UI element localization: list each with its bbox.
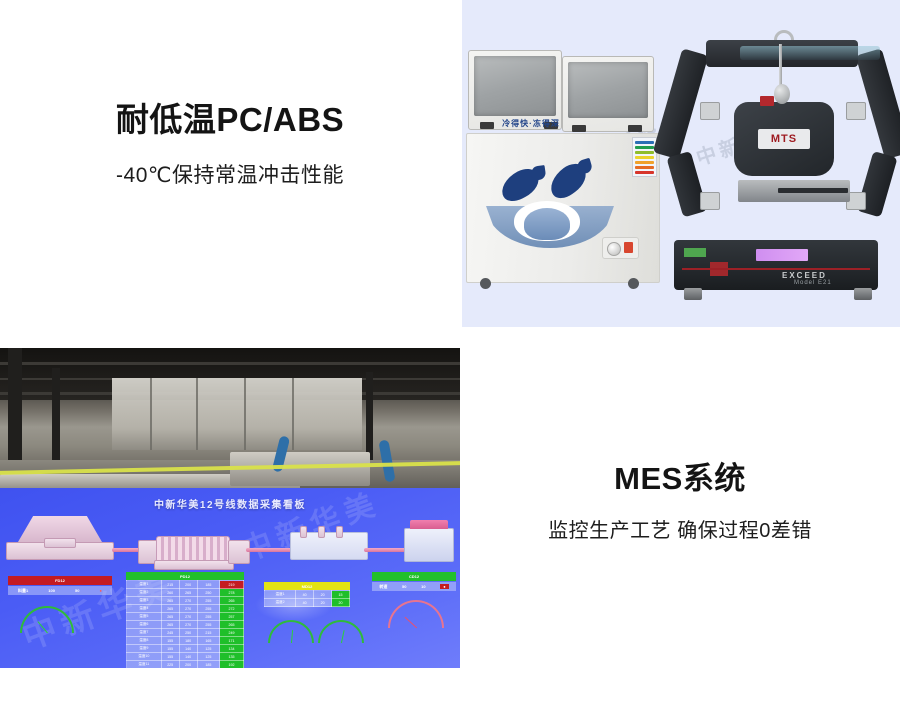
panel-header-pd12: PD12 [126,572,244,580]
extruder-frame [154,560,234,570]
feature-mes-subtitle: 监控生产工艺 确保过程0差错 [460,521,900,541]
freezer-caster-1 [480,278,491,289]
cell-lo: 250 [197,589,219,597]
panel-stack-3 [336,526,343,538]
cell-pv: 135 [220,653,244,661]
pipe-panel-to-pelletizer [364,548,408,552]
panel-chips-fd12: 料量1 100 50 ● [8,586,112,595]
panel-stack-1 [300,526,307,538]
cell-set: 260 [161,589,179,597]
gauge-md12-1 [268,620,314,643]
logo-wave-core [524,208,570,240]
cell-set: 265 [161,597,179,605]
table-row: 温度9155140125134 [127,645,244,653]
cell-hi: 265 [179,589,197,597]
tester-base: EXCEED Model E21 [674,240,878,290]
chip-fd12-3: ● [100,588,102,593]
frame-glass [740,46,880,60]
test-specimen [778,188,848,193]
chip-fd12-2: 50 [75,588,79,593]
feeder-throat [44,538,76,548]
cell-pv: 134 [220,645,244,653]
cell-pv: 278 [220,589,244,597]
cell-label: 温度8 [127,637,162,645]
gauge-fd12-needle [37,621,47,633]
chip-cd12-1: 50 [402,584,406,589]
table-row: 温度5265270255257 [127,613,244,621]
freezer-lid-right-panel [568,62,648,118]
frame-arm-top [706,40,858,67]
cell-label: 温度11 [127,661,162,669]
chip-cd12-3: ● [440,584,448,589]
freezer-dolphin-logo [484,168,616,252]
table-row: 温度1215200185219 [127,581,244,589]
freezer-caster-2 [628,278,639,289]
freezer-slogan: 冷得快·冻得深 [472,118,590,129]
cell-pv: 257 [220,613,244,621]
extruder-outlet [228,540,250,564]
cell-hi: 200 [179,661,197,669]
cell-set: 265 [161,621,179,629]
window-mullion-1 [150,378,152,450]
panel-chips-cd12: 转速 50 10 ● [372,582,456,591]
cell-set: 215 [161,581,179,589]
cell-pv: 272 [220,605,244,613]
dolphin-icon-left [496,164,544,206]
pelletizer-hopper [410,520,448,529]
table-pd12: 温度1215200185219温度2260265250278温度32652702… [126,580,244,668]
gauge-md12-1-needle [291,630,293,643]
base-brand-label: EXCEED [782,271,827,280]
striker-weight [774,84,790,104]
cell-hi: 270 [179,613,197,621]
cell-pv: 249 [220,629,244,637]
freezer-lid-left-panel [474,56,556,116]
base-status-lamp [684,248,706,257]
cell-label: 温度4 [127,605,162,613]
cell-hi: 270 [179,597,197,605]
frame-hinge-left [700,102,720,120]
cell-set: 155 [161,645,179,653]
chip-fd12-0: 料量1 [18,588,28,594]
cell-label: 温度9 [127,645,162,653]
cell-lo: 125 [197,645,219,653]
impact-head: MTS [734,102,834,176]
cell-pv: 219 [220,581,244,589]
cell-label: 温度3 [127,597,162,605]
window-mullion-2 [196,378,198,450]
feature-cold-title: 耐低温PC/ABS [0,103,460,136]
cell-set: 265 [161,613,179,621]
table-row: 温度10155140125135 [127,653,244,661]
base-model-label: Model E21 [794,280,832,286]
freezer-power-button [624,242,633,253]
gauge-md12-2 [318,620,364,643]
chip-cd12-0: 转速 [379,584,387,590]
screen-glare [255,588,333,622]
window-mullion-4 [292,378,294,450]
pelletizer-unit [404,528,454,562]
table-row: 温度2260265250278 [127,589,244,597]
feature-mes-title: MES系统 [460,463,900,494]
base-accent-line [682,268,870,270]
cell-lo: 255 [197,597,219,605]
roof-beam-1 [0,362,460,365]
cell-label: 温度2 [127,589,162,597]
panel-header-cd12: CD12 [372,572,456,581]
tester-foot-right [854,288,872,300]
window-mullion-3 [244,378,246,450]
cell-set: 155 [161,637,179,645]
dashboard-title: 中新华美12号线数据采集看板 [0,496,460,511]
cell-pv: 192 [220,661,244,669]
cell-lo: 255 [197,621,219,629]
cell-hi: 140 [179,645,197,653]
tester-foot-left [684,288,702,300]
cell-lo: 165 [197,637,219,645]
cell-label: 温度7 [127,629,162,637]
cell-hi: 140 [179,653,197,661]
freezer-knob-icon [607,242,621,256]
cell-pv: 15 [332,591,350,599]
cell-pv: 265 [220,621,244,629]
gauge-cd12 [388,600,444,628]
photo-mes-workshop: 中新华美 中新华美 中新华美12号线数据采集看板 FD12 料量1 [0,348,460,668]
cell-pv: 171 [220,637,244,645]
cell-lo: 185 [197,661,219,669]
cell-label: 温度5 [127,613,162,621]
gauge-md12-2-needle [341,631,345,644]
tester-hex-frame: MTS [678,40,886,245]
cell-set: 155 [161,653,179,661]
chip-cd12-2: 10 [421,584,425,589]
cell-hi: 180 [179,637,197,645]
feature-cold-subtitle: -40℃保持常温冲击性能 [0,165,460,186]
feature-mes-system: MES系统 监控生产工艺 确保过程0差错 [460,463,900,563]
base-display-screen [756,249,808,261]
cell-lo: 255 [197,613,219,621]
chip-fd12-1: 100 [48,588,55,593]
head-indicator [760,96,774,106]
mts-logo: MTS [758,129,810,149]
product-detail-page: 耐低温PC/ABS -40℃保持常温冲击性能 中新华美 中新华美 中新华美 [0,0,900,704]
energy-label [632,137,657,177]
cell-lo: 125 [197,653,219,661]
cell-set: 265 [161,605,179,613]
gauge-cd12-needle [405,617,417,628]
cell-lo: 215 [197,629,219,637]
table-row: 温度7245250215249 [127,629,244,637]
panel-stack-2 [318,526,325,538]
cell-label: 温度1 [127,581,162,589]
cell-label: 温度10 [127,653,162,661]
cell-label: 温度6 [127,621,162,629]
table-row: 温度6265270255265 [127,621,244,629]
table-row: 温度4265270255272 [127,605,244,613]
feature-cold-resistance: 耐低温PC/ABS -40℃保持常温冲击性能 [0,103,460,203]
cell-set: 245 [161,629,179,637]
cell-hi: 270 [179,621,197,629]
frame-hinge-bottom-left [700,192,720,210]
table-row: 温度8155180165171 [127,637,244,645]
panel-header-fd12: FD12 [8,576,112,585]
cell-set: 225 [161,661,179,669]
table-row: 温度3265270255265 [127,597,244,605]
freezer-lid-foot-4 [628,125,642,132]
cell-hi: 200 [179,581,197,589]
mes-dashboard-screen: 中新华美 中新华美 中新华美12号线数据采集看板 FD12 料量1 [0,488,460,668]
cell-hi: 250 [179,629,197,637]
photo-cold-impact-test: 中新华美 中新华美 中新华美 [462,0,900,327]
cell-lo: 185 [197,581,219,589]
table-row: 温度11225200185192 [127,661,244,669]
cell-pv: 20 [332,599,350,607]
frame-hinge-right [846,102,866,120]
cell-pv: 265 [220,597,244,605]
freezer-control-panel [602,237,639,259]
cell-lo: 255 [197,605,219,613]
cell-hi: 270 [179,605,197,613]
pipe-extruder-to-panel [246,548,294,552]
workshop-photo [0,348,460,506]
